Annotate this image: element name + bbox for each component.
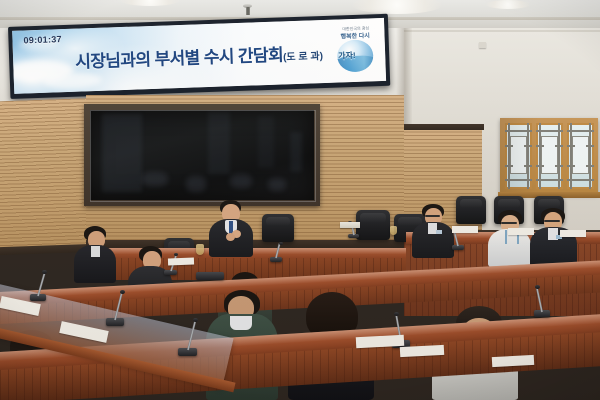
lattice-window-panel-1 [505,123,532,189]
lattice-window-panel-3 [567,123,594,189]
chair-empty-3[interactable] [456,196,486,224]
city-logo-icon: 대한민국의 중심 행복한 다시 가자! [332,25,378,75]
wall-display-screen[interactable] [90,110,314,200]
wall-trim-top [404,124,484,130]
logo-line-main: 가자! [338,50,356,62]
wall-sensor-icon [479,42,486,48]
wall-shadow-line [404,30,600,32]
document-sheet-6[interactable] [508,228,534,235]
document-sheet-5[interactable] [452,226,478,233]
document-sheet-7[interactable] [560,230,586,237]
chair-empty-6[interactable] [262,214,294,242]
name-placard [340,222,360,228]
attendee-right-1-glasses-icon [425,215,440,217]
attendee-left-1-shirt [91,246,100,257]
chair-empty-1[interactable] [356,210,390,240]
lattice-window-panel-2 [536,123,563,189]
conference-room-photo: 09:01:37 시장님과의 부서별 수시 간담회(도 로 과) 대한민국의 중… [0,0,600,400]
attendee-right-1-badge [436,230,442,234]
attendee-right-2-glasses-icon [501,222,517,224]
person-speaker-center [206,200,256,256]
attendee-right-3-glasses-icon [544,220,560,222]
lattice-window-group [500,118,598,194]
person-attendee-right-1 [412,204,456,258]
ceiling-sprinkler-icon [243,4,252,15]
document-sheet-1[interactable] [168,258,194,266]
beverage-cup-2[interactable] [390,226,397,235]
ceiling-light-2 [486,0,530,9]
person-attendee-right-2 [488,210,532,266]
person-attendee-left-1 [74,226,118,282]
beverage-cup[interactable] [196,244,204,255]
banner-timestamp: 09:01:37 [23,34,62,45]
person-attendee-right-3 [530,208,578,266]
led-banner: 09:01:37 시장님과의 부서별 수시 간담회(도 로 과) 대한민국의 중… [8,14,390,99]
attendee-front-2-collar [230,316,252,330]
speaker-hand-right [226,233,235,241]
banner-title-suffix: (도 로 과) [283,51,323,63]
desk-control-panel[interactable] [196,272,224,280]
